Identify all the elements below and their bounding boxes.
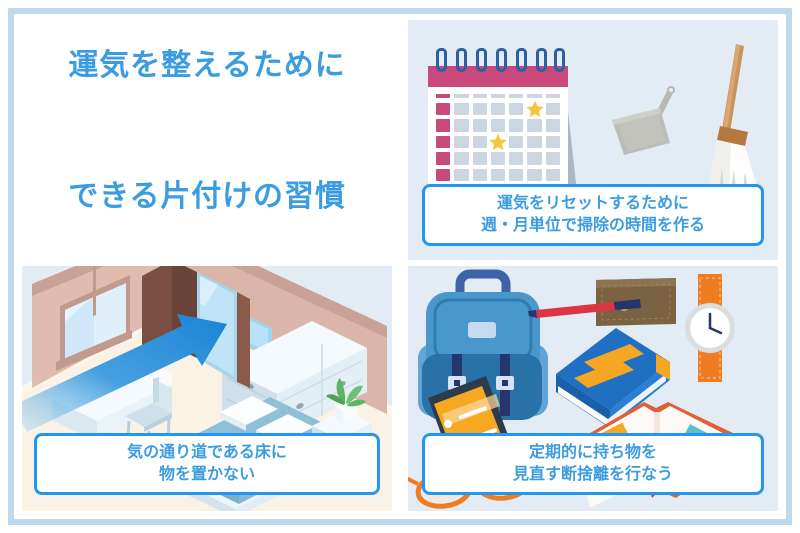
calendar-day-cell bbox=[527, 119, 541, 131]
caption-declutter-line-2: 見直す断捨離を行なう bbox=[513, 464, 673, 486]
calendar-day-cell bbox=[436, 103, 450, 115]
calendar-day-cell bbox=[546, 136, 560, 148]
calendar-day-cell bbox=[527, 169, 541, 181]
calendar-day-cell bbox=[454, 119, 468, 131]
calendar-day-cell bbox=[527, 152, 541, 164]
calendar-day-cell bbox=[509, 152, 523, 164]
calendar-day-cell bbox=[436, 119, 450, 131]
calendar-day-cell bbox=[454, 136, 468, 148]
caption-schedule-line-2: 週・月単位で掃除の時間を作る bbox=[481, 215, 705, 237]
calendar-day-cell bbox=[546, 152, 560, 164]
calendar-day-cell bbox=[491, 152, 505, 164]
star-icon bbox=[526, 100, 544, 118]
calendar-weekday-bar bbox=[527, 94, 541, 98]
panel-title: 運気を整えるために できる片付けの習慣 bbox=[22, 20, 392, 260]
calendar-weekday-bar bbox=[509, 94, 523, 98]
caption-floor: 気の通り道である床に 物を置かない bbox=[34, 433, 380, 495]
caption-declutter: 定期的に持ち物を 見直す断捨離を行なう bbox=[422, 433, 764, 495]
page-title-line-1: 運気を整えるために bbox=[68, 44, 346, 88]
calendar-ring-icon bbox=[496, 48, 507, 72]
calendar-day-cell-starred bbox=[491, 136, 505, 148]
calendar-spiral-rings bbox=[436, 48, 568, 74]
calendar-day-cell bbox=[473, 136, 487, 148]
caption-schedule: 運気をリセットするために 週・月単位で掃除の時間を作る bbox=[422, 184, 764, 246]
calendar-ring-icon bbox=[436, 48, 447, 72]
wristwatch-icon bbox=[685, 274, 735, 382]
caption-declutter-line-1: 定期的に持ち物を bbox=[529, 442, 657, 464]
calendar-day-cell bbox=[509, 136, 523, 148]
calendar-day-cell bbox=[509, 169, 523, 181]
calendar-day-cell bbox=[473, 119, 487, 131]
calendar-day-cell bbox=[454, 103, 468, 115]
calendar-day-cell bbox=[509, 119, 523, 131]
calendar-ring-icon bbox=[476, 48, 487, 72]
calendar-day-cell bbox=[436, 169, 450, 181]
calendar-day-cell bbox=[527, 136, 541, 148]
panel-schedule: 運気をリセットするために 週・月単位で掃除の時間を作る bbox=[408, 20, 778, 260]
calendar-day-cell bbox=[473, 152, 487, 164]
panel-declutter: 定期的に持ち物を 見直す断捨離を行なう bbox=[408, 266, 778, 511]
calendar-day-cell bbox=[491, 169, 505, 181]
calendar-day-cell bbox=[454, 152, 468, 164]
calendar-grid bbox=[436, 93, 560, 181]
calendar-ring-icon bbox=[456, 48, 467, 72]
calendar-icon bbox=[428, 42, 583, 194]
dustpan-icon bbox=[608, 75, 692, 161]
calendar-day-cell bbox=[491, 103, 505, 115]
calendar-day-cell bbox=[546, 119, 560, 131]
calendar-day-cell bbox=[546, 169, 560, 181]
caption-floor-line-1: 気の通り道である床に bbox=[127, 442, 287, 464]
calendar-weekday-bar bbox=[491, 94, 505, 98]
calendar-ring-icon bbox=[516, 48, 527, 72]
infographic-root: 運気を整えるために できる片付けの習慣 bbox=[0, 0, 800, 533]
calendar-weekday-bar bbox=[473, 94, 487, 98]
calendar-weekday-bar bbox=[546, 94, 560, 98]
caption-floor-line-2: 物を置かない bbox=[159, 464, 255, 486]
calendar-day-cell bbox=[546, 103, 560, 115]
page-title-line-2: できる片付けの習慣 bbox=[68, 175, 346, 219]
calendar-day-cell bbox=[436, 152, 450, 164]
calendar-day-cell bbox=[454, 169, 468, 181]
calendar-day-cell-starred bbox=[527, 103, 541, 115]
star-icon bbox=[489, 133, 507, 151]
calendar-ring-icon bbox=[536, 48, 547, 72]
page-title: 運気を整えるために できる片付けの習慣 bbox=[68, 20, 346, 260]
calendar-day-cell bbox=[436, 136, 450, 148]
caption-schedule-line-1: 運気をリセットするために bbox=[497, 193, 689, 215]
calendar-ring-icon bbox=[554, 48, 565, 72]
calendar-day-cell bbox=[473, 169, 487, 181]
panel-floor: 気の通り道である床に 物を置かない bbox=[22, 266, 392, 511]
calendar-weekday-bar bbox=[454, 94, 468, 98]
calendar-day-cell bbox=[491, 119, 505, 131]
calendar-weekday-bar bbox=[436, 94, 450, 98]
broom-icon bbox=[698, 40, 778, 195]
calendar-day-cell bbox=[473, 103, 487, 115]
calendar-day-cell bbox=[509, 103, 523, 115]
